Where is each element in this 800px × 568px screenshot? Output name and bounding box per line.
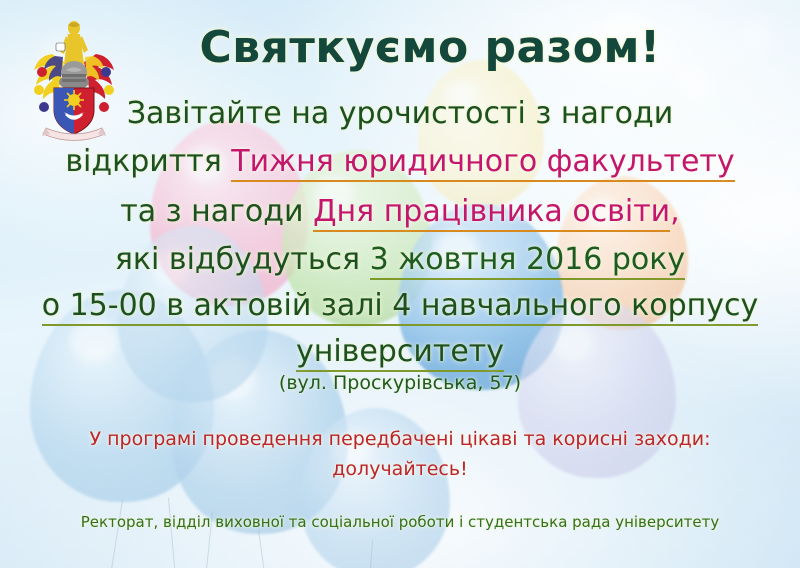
date-prefix: які відбудуться bbox=[115, 242, 370, 277]
poster-title: Святкуємо разом! bbox=[0, 22, 800, 73]
law-faculty-week-highlight: Тижня юридичного факультету bbox=[231, 144, 734, 182]
occasion-suffix: , bbox=[670, 194, 680, 230]
venue-line: о 15-00 в актовій залі 4 навчального кор… bbox=[0, 288, 800, 323]
celebration-poster: Святкуємо разом! Завітайте на урочистост… bbox=[0, 0, 800, 568]
event-date-highlight: 3 жовтня 2016 року bbox=[370, 242, 686, 280]
poster-content: Святкуємо разом! Завітайте на урочистост… bbox=[0, 0, 800, 568]
program-line-1: У програмі проведення передбачені цікаві… bbox=[0, 428, 800, 450]
opening-line: відкриття Тижня юридичного факультету bbox=[0, 144, 800, 179]
poster-footer: Ректорат, відділ виховної та соціальної … bbox=[0, 513, 800, 531]
venue-line-2: університету bbox=[0, 334, 800, 369]
educators-day-highlight: Дня працівника освіти bbox=[313, 194, 670, 232]
invite-line: Завітайте на урочистості з нагоди bbox=[0, 96, 800, 131]
address-line: (вул. Проскурівська, 57) bbox=[0, 372, 800, 394]
venue-text: о 15-00 в актовій залі 4 навчального кор… bbox=[42, 288, 759, 326]
occasion-prefix: та з нагоди bbox=[120, 194, 313, 229]
occasion-line: та з нагоди Дня працівника освіти, bbox=[0, 194, 800, 229]
opening-prefix: відкриття bbox=[65, 144, 231, 179]
invite-text: Завітайте на урочистості з нагоди bbox=[127, 96, 673, 131]
program-line-2: долучайтесь! bbox=[0, 458, 800, 480]
venue-text-2: університету bbox=[296, 334, 504, 372]
date-line: які відбудуться 3 жовтня 2016 року bbox=[0, 242, 800, 277]
